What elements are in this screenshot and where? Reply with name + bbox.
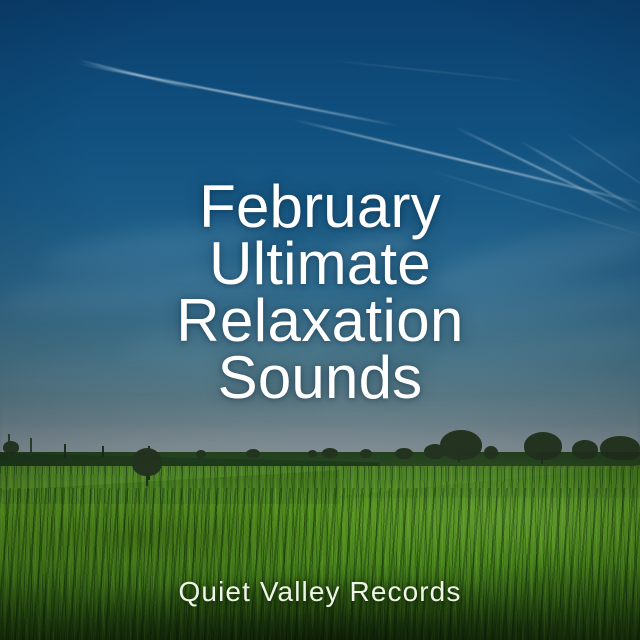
album-title-line-2: Ultimate bbox=[0, 235, 640, 292]
album-title-line-1: February bbox=[0, 178, 640, 235]
ground-vignette bbox=[0, 452, 640, 640]
album-title-line-4: Sounds bbox=[0, 349, 640, 406]
album-title-line-3: Relaxation bbox=[0, 292, 640, 349]
record-label-name: Quiet Valley Records bbox=[0, 576, 640, 608]
album-title: February Ultimate Relaxation Sounds bbox=[0, 178, 640, 406]
album-cover-artwork: February Ultimate Relaxation Sounds Quie… bbox=[0, 0, 640, 640]
